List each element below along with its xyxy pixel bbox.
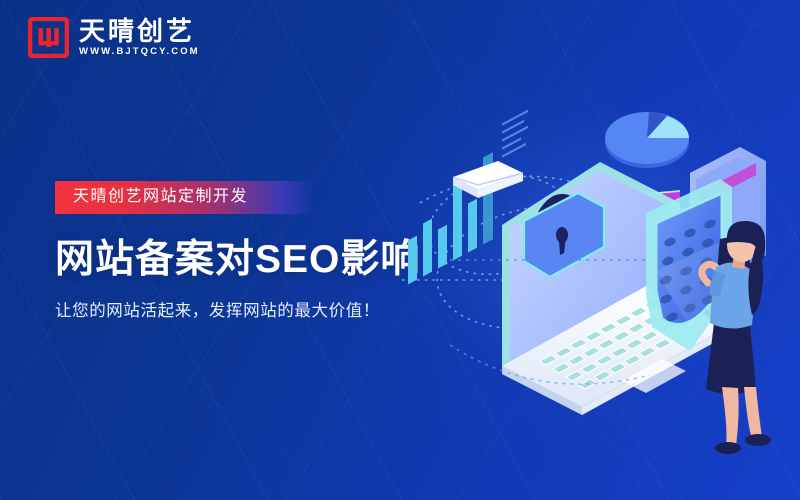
page-title: 网站备案对SEO影响 — [55, 238, 420, 282]
isometric-security-scene-svg — [390, 95, 800, 455]
logo-website-url: WWW.BJTQCY.COM — [79, 47, 200, 57]
logo-company-name: 天晴创艺 — [79, 18, 200, 44]
data-text-lines — [502, 110, 528, 158]
hero-illustration — [390, 95, 800, 455]
headline-block: 天晴创艺网站定制开发 网站备案对SEO影响 让您的网站活起来，发挥网站的最大价值… — [55, 181, 420, 321]
page-subtitle: 让您的网站活起来，发挥网站的最大价值！ — [55, 302, 420, 322]
brand-logo[interactable]: 天晴创艺 WWW.BJTQCY.COM — [28, 17, 200, 58]
promo-banner: 天晴创艺 WWW.BJTQCY.COM 天晴创艺网站定制开发 网站备案对SEO影… — [0, 0, 800, 500]
pie-chart-icon — [605, 112, 689, 168]
badge-tagline: 天晴创艺网站定制开发 — [55, 181, 313, 214]
logo-text-group: 天晴创艺 WWW.BJTQCY.COM — [79, 18, 200, 57]
tqcy-square-logo-icon — [28, 17, 69, 58]
envelope-icon — [453, 161, 523, 198]
